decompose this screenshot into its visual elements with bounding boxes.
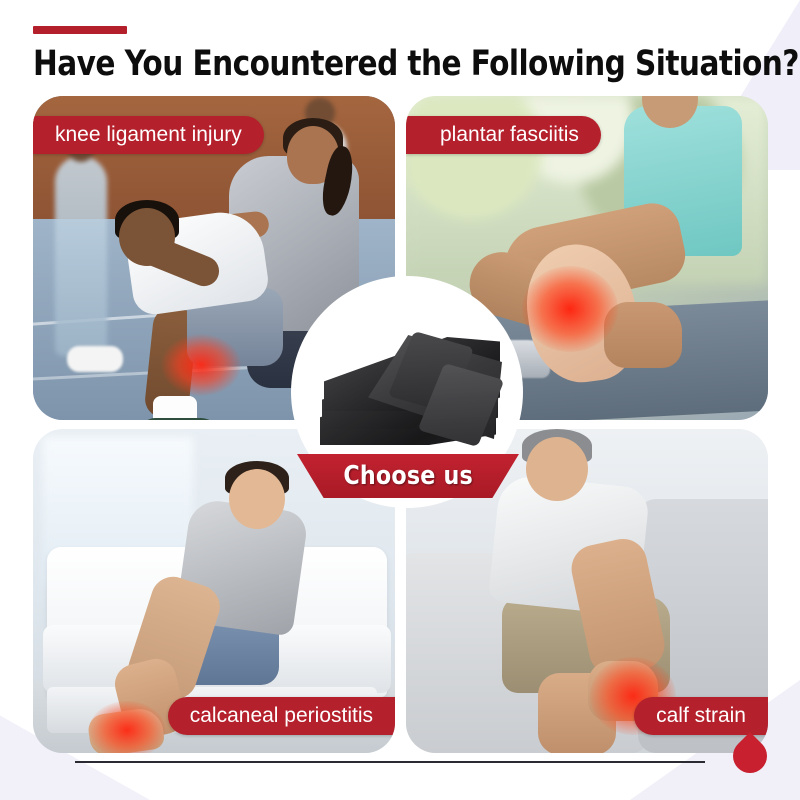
boy-sock	[153, 396, 197, 420]
foam-wedge	[316, 313, 502, 463]
accent-bar	[33, 26, 127, 34]
background-shoe	[67, 346, 123, 372]
bottom-divider-line	[75, 761, 705, 763]
caption-plantar: plantar fasciitis	[406, 116, 601, 154]
caption-calcaneal: calcaneal periostitis	[168, 697, 395, 735]
man-head	[526, 437, 588, 501]
header: Have You Encountered the Following Situa…	[33, 26, 800, 82]
page-title: Have You Encountered the Following Situa…	[33, 47, 799, 82]
man-head	[229, 469, 285, 529]
choose-us-label: Choose us	[343, 461, 472, 491]
caption-knee: knee ligament injury	[33, 116, 264, 154]
boy-shoe	[141, 418, 219, 420]
pain-glow-icon	[89, 701, 165, 753]
pain-glow-icon	[161, 334, 241, 396]
caption-calf-strain: calf strain	[634, 697, 768, 735]
background-player-left	[55, 156, 107, 356]
pain-glow-icon	[522, 266, 618, 352]
choose-us-ribbon[interactable]: Choose us	[297, 454, 519, 498]
